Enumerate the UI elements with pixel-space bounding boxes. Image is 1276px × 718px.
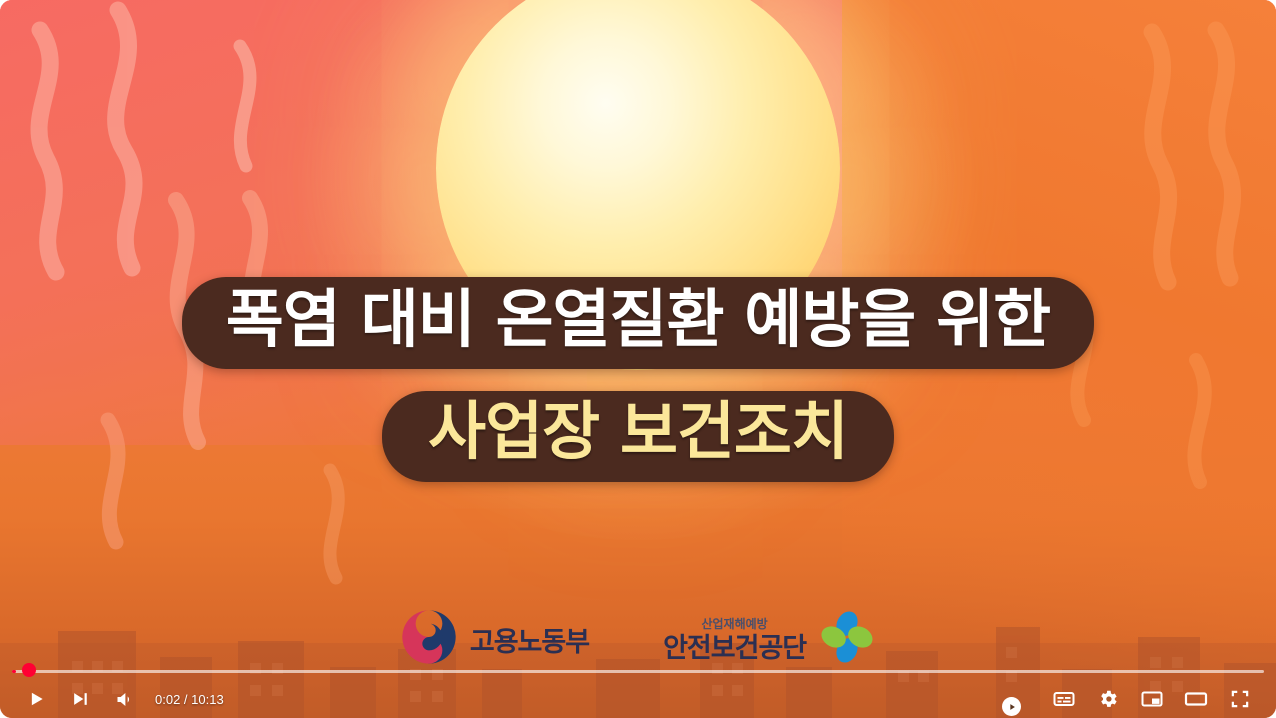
miniplayer-icon — [1140, 687, 1164, 711]
theater-icon — [1184, 687, 1208, 711]
settings-button[interactable] — [1086, 680, 1130, 718]
next-video-button[interactable] — [58, 680, 102, 718]
logo-label-molab: 고용노동부 — [470, 620, 589, 659]
progress-scrubber[interactable] — [22, 663, 36, 677]
title-pill-line1: 폭염 대비 온열질환 예방을 위한 — [182, 277, 1094, 369]
video-player[interactable]: 폭염 대비 온열질환 예방을 위한 사업장 보건조치 고용노동부 산업재해예방 … — [0, 0, 1276, 718]
autoplay-toggle-button[interactable] — [998, 680, 1042, 718]
player-controls[interactable]: 0:02 / 10:13 — [0, 658, 1276, 718]
fullscreen-icon — [1229, 688, 1251, 710]
title-pill-line2: 사업장 보건조치 — [382, 391, 894, 481]
volume-icon — [114, 689, 135, 710]
volume-button[interactable] — [102, 680, 146, 718]
kosha-tagline: 산업재해예방 — [701, 618, 767, 630]
fullscreen-button[interactable] — [1218, 680, 1262, 718]
subtitles-button[interactable] — [1042, 680, 1086, 718]
gear-icon — [1097, 688, 1119, 710]
progress-played — [12, 670, 16, 673]
next-icon — [70, 689, 90, 709]
theater-mode-button[interactable] — [1174, 680, 1218, 718]
play-icon — [26, 689, 46, 709]
progress-bar[interactable] — [12, 669, 1264, 673]
play-button[interactable] — [14, 680, 58, 718]
video-title-line1: 폭염 대비 온열질환 예방을 위한 — [226, 283, 1050, 357]
progress-track[interactable] — [12, 670, 1264, 673]
time-display: 0:02 / 10:13 — [155, 692, 224, 707]
video-title-overlay: 폭염 대비 온열질환 예방을 위한 사업장 보건조치 — [0, 277, 1276, 482]
miniplayer-button[interactable] — [1130, 680, 1174, 718]
subtitles-icon — [1052, 687, 1076, 711]
video-title-line2: 사업장 보건조치 — [428, 395, 848, 469]
